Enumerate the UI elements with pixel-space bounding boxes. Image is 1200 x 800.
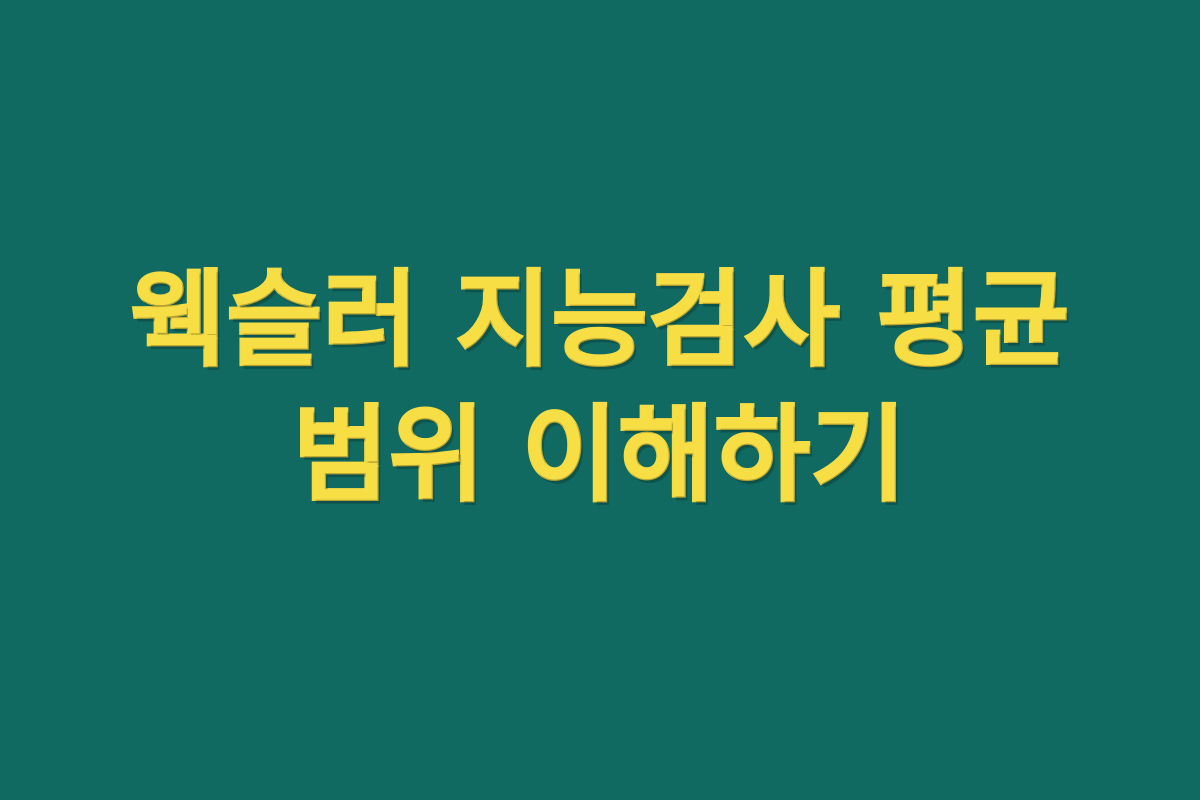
headline-block: 웩슬러 지능검사 평균 범위 이해하기 bbox=[80, 253, 1120, 523]
page-title: 웩슬러 지능검사 평균 범위 이해하기 bbox=[80, 253, 1120, 523]
title-card: 웩슬러 지능검사 평균 범위 이해하기 bbox=[0, 0, 1200, 800]
